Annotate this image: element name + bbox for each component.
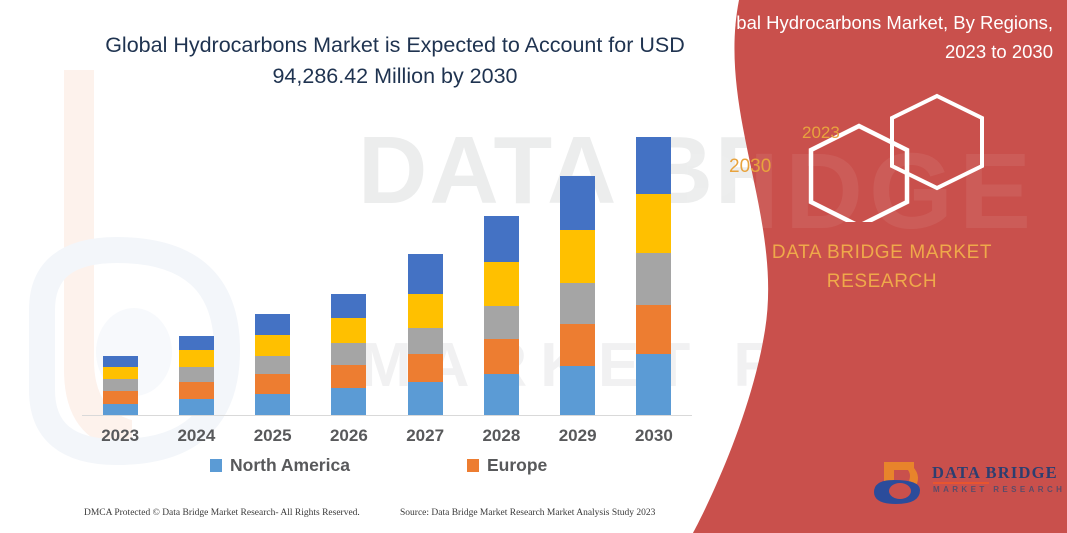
bar-segment bbox=[179, 367, 214, 382]
x-axis-label: 2026 bbox=[314, 426, 384, 446]
logo-text-sub: MARKET RESEARCH bbox=[933, 485, 1065, 494]
x-axis-label: 2023 bbox=[85, 426, 155, 446]
bar-segment bbox=[255, 335, 290, 356]
bar-segment bbox=[103, 367, 138, 379]
data-bridge-logo: DATA BRIDGE MARKET RESEARCH bbox=[870, 458, 1050, 510]
bar-segment bbox=[408, 254, 443, 294]
logo-text-main: DATA BRIDGE bbox=[932, 463, 1058, 483]
bar-segment bbox=[560, 230, 595, 283]
bar-segment bbox=[103, 379, 138, 391]
bar-segment bbox=[408, 294, 443, 328]
bar-segment bbox=[103, 391, 138, 404]
hexagon-group bbox=[797, 92, 1067, 222]
bar-segment bbox=[636, 253, 671, 304]
bar-segment bbox=[636, 194, 671, 253]
x-axis-labels: 20232024202520262027202820292030 bbox=[82, 426, 692, 450]
bar-segment bbox=[484, 339, 519, 374]
bar-segment bbox=[331, 343, 366, 365]
bar-column bbox=[636, 137, 671, 416]
infographic-canvas: DATA BRIDGE MARKET RESEARCH Global Hydro… bbox=[0, 0, 1067, 533]
bar-column bbox=[255, 314, 290, 416]
x-axis-line bbox=[82, 415, 692, 416]
bar-segment bbox=[255, 314, 290, 335]
bar-column bbox=[103, 356, 138, 416]
x-axis-label: 2028 bbox=[466, 426, 536, 446]
chart-legend: North AmericaEurope bbox=[82, 455, 692, 481]
chart-plot-area bbox=[82, 120, 692, 416]
bar-segment bbox=[255, 374, 290, 394]
chart-title: Global Hydrocarbons Market is Expected t… bbox=[100, 30, 690, 92]
hexagon-2030-label: 2030 bbox=[729, 156, 771, 178]
bar-segment bbox=[408, 354, 443, 382]
legend-label: Europe bbox=[487, 455, 547, 476]
bar-segment bbox=[636, 305, 671, 354]
bar-segment bbox=[408, 328, 443, 354]
bar-segment bbox=[636, 137, 671, 194]
hexagon-2023-label: 2023 bbox=[802, 123, 840, 143]
right-panel: RIDGE Global Hydrocarbons Market, By Reg… bbox=[687, 0, 1067, 533]
bar-segment bbox=[179, 399, 214, 416]
brand-line-1: DATA BRIDGE MARKET bbox=[772, 242, 992, 263]
bar-segment bbox=[484, 262, 519, 306]
panel-title: Global Hydrocarbons Market, By Regions, … bbox=[705, 8, 1053, 66]
bar-column bbox=[408, 254, 443, 416]
bar-column bbox=[179, 336, 214, 416]
bar-segment bbox=[484, 306, 519, 339]
legend-swatch-icon bbox=[210, 459, 222, 472]
bar-segment bbox=[636, 354, 671, 416]
bar-segment bbox=[179, 382, 214, 398]
bar-segment bbox=[331, 388, 366, 416]
brand-name: DATA BRIDGE MARKET RESEARCH bbox=[717, 238, 1047, 296]
x-axis-label: 2030 bbox=[619, 426, 689, 446]
footer-source: Source: Data Bridge Market Research Mark… bbox=[400, 508, 655, 518]
bar-column bbox=[484, 216, 519, 416]
logo-divider bbox=[933, 482, 989, 484]
bar-segment bbox=[331, 318, 366, 343]
bar-segment bbox=[560, 176, 595, 230]
x-axis-label: 2024 bbox=[161, 426, 231, 446]
x-axis-label: 2025 bbox=[238, 426, 308, 446]
bar-segment bbox=[179, 350, 214, 366]
logo-mark-icon bbox=[870, 458, 932, 508]
bar-segment bbox=[255, 394, 290, 416]
bar-column bbox=[331, 294, 366, 416]
legend-item[interactable]: North America bbox=[210, 455, 350, 476]
legend-swatch-icon bbox=[467, 459, 479, 472]
bar-segment bbox=[560, 283, 595, 324]
brand-line-2: RESEARCH bbox=[827, 271, 937, 292]
bar-segment bbox=[103, 356, 138, 367]
bar-column bbox=[560, 176, 595, 416]
bar-segment bbox=[484, 374, 519, 416]
bar-segment bbox=[179, 336, 214, 350]
bar-segment bbox=[560, 324, 595, 366]
legend-label: North America bbox=[230, 455, 350, 476]
x-axis-label: 2029 bbox=[543, 426, 613, 446]
legend-item[interactable]: Europe bbox=[467, 455, 547, 476]
footer-copyright: DMCA Protected © Data Bridge Market Rese… bbox=[84, 508, 360, 518]
bar-segment bbox=[331, 365, 366, 388]
bar-segment bbox=[560, 366, 595, 416]
bar-segment bbox=[484, 216, 519, 262]
bar-segment bbox=[255, 356, 290, 374]
bar-segment bbox=[408, 382, 443, 416]
x-axis-label: 2027 bbox=[390, 426, 460, 446]
bar-segment bbox=[331, 294, 366, 318]
